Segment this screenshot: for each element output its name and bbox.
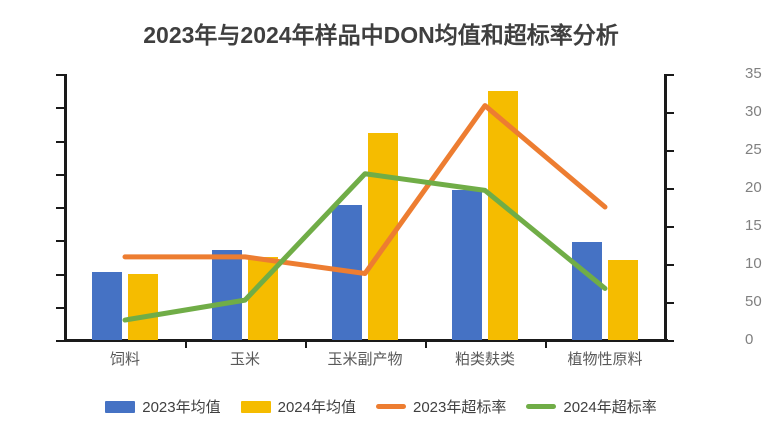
right-axis-tick [665, 150, 674, 152]
chart-container: 2023年与2024年样品中DON均值和超标率分析 0%2%4%6%8%10%1… [0, 0, 762, 434]
x-axis-label-3: 粕类麸类 [455, 348, 515, 369]
right-axis-tick [665, 340, 674, 342]
legend-line-swatch-icon [526, 404, 556, 409]
right-axis-tick [665, 112, 674, 114]
left-axis-tick [56, 207, 65, 209]
left-axis-tick [56, 107, 65, 109]
left-axis-tick [56, 340, 65, 342]
line-2024-rate [125, 174, 605, 320]
x-axis-label-1: 玉米 [230, 348, 260, 369]
right-axis-tick [665, 226, 674, 228]
right-axis-tick-label: 3000 [745, 103, 762, 120]
right-axis-tick-label: 1000 [745, 255, 762, 272]
right-axis-tick [665, 188, 674, 190]
x-axis-tick [305, 340, 307, 348]
x-axis-tick [425, 340, 427, 348]
legend-bar-swatch-icon [105, 401, 135, 413]
line-2023-rate [125, 106, 605, 274]
legend-bar-swatch-icon [241, 401, 271, 413]
x-axis-tick [545, 340, 547, 348]
left-axis-tick [56, 274, 65, 276]
left-axis-tick [56, 307, 65, 309]
right-axis-tick [665, 264, 674, 266]
legend-label: 2023年超标率 [413, 396, 506, 417]
right-axis-tick-label: 3500 [745, 65, 762, 82]
x-axis-label-2: 玉米副产物 [327, 348, 402, 369]
left-axis-tick [56, 74, 65, 76]
legend-line-swatch-icon [376, 404, 406, 409]
legend-item-3[interactable]: 2024年超标率 [526, 396, 656, 417]
right-axis-tick-label: 0 [745, 331, 762, 348]
x-axis-label-0: 饲料 [110, 348, 140, 369]
legend-label: 2024年超标率 [563, 396, 656, 417]
legend-item-2[interactable]: 2023年超标率 [376, 396, 506, 417]
plot-area: 0%2%4%6%8%10%12%14%16% 05001000150020002… [65, 74, 665, 340]
legend-item-0[interactable]: 2023年均值 [105, 396, 220, 417]
legend-label: 2023年均值 [142, 396, 220, 417]
left-axis-tick [56, 141, 65, 143]
chart-legend: 2023年均值2024年均值2023年超标率2024年超标率 [0, 396, 762, 417]
right-axis-tick-label: 2500 [745, 141, 762, 158]
chart-title: 2023年与2024年样品中DON均值和超标率分析 [0, 16, 762, 50]
left-axis-tick [56, 240, 65, 242]
left-axis-tick [56, 174, 65, 176]
legend-item-1[interactable]: 2024年均值 [241, 396, 356, 417]
legend-label: 2024年均值 [278, 396, 356, 417]
x-axis-label-4: 植物性原料 [567, 348, 642, 369]
right-axis-tick-label: 2000 [745, 179, 762, 196]
right-axis-tick-label: 1500 [745, 217, 762, 234]
x-axis-tick [185, 340, 187, 348]
line-series-group [65, 74, 665, 340]
right-axis-tick [665, 302, 674, 304]
right-axis-tick-label: 500 [745, 293, 762, 310]
right-axis-tick [665, 74, 674, 76]
